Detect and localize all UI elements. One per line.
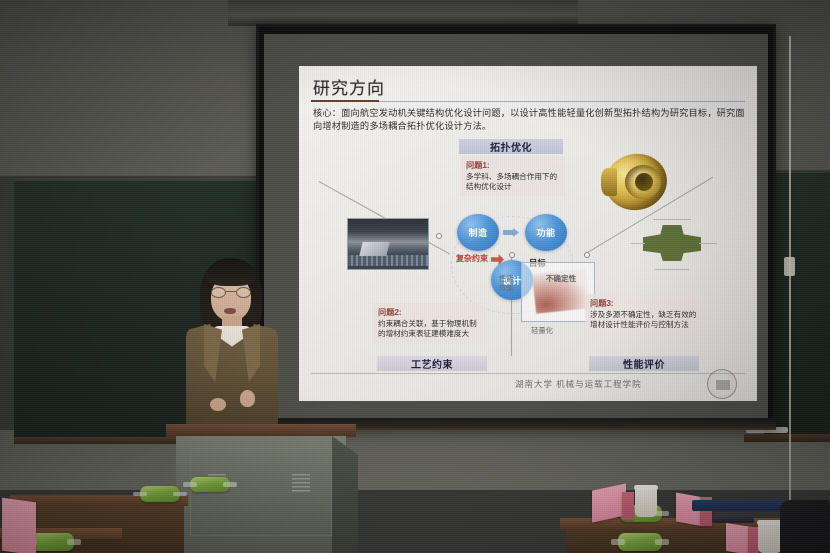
slide-footer: 湖南大学 机械与运载工程学院 bbox=[515, 378, 642, 390]
pillar-process-constraint: 工艺约束 bbox=[377, 356, 487, 371]
presenter-hand-right bbox=[240, 390, 255, 407]
snack-pack bbox=[140, 486, 180, 502]
pareto-y-axis-label: 性能效能 bbox=[499, 274, 521, 292]
problem-1-title: 问题1: bbox=[466, 159, 560, 171]
name-tent-card bbox=[2, 498, 36, 553]
problem-2-body: 约束耦合关联，基于物理机制的增材约束表征建模难度大 bbox=[378, 319, 480, 339]
pillar-performance-evaluation: 性能评价 bbox=[589, 356, 699, 371]
turbine-side-flange bbox=[601, 168, 617, 196]
snack-pack bbox=[30, 533, 74, 551]
slide-title: 研究方向 bbox=[313, 74, 385, 99]
snack-pack bbox=[618, 533, 662, 551]
bag bbox=[780, 500, 830, 553]
bubble-function: 功能 bbox=[525, 214, 567, 251]
slide-footer-rule bbox=[311, 373, 745, 374]
screen-surface: 研究方向 核心：面向航空发动机关键结构优化设计问题，以设计高性能轻量化创新型拓扑… bbox=[264, 34, 768, 420]
title-rule-accent bbox=[311, 100, 379, 102]
presenter bbox=[178, 258, 286, 443]
dimension-line-right bbox=[699, 243, 717, 244]
cup-lip bbox=[634, 485, 658, 490]
dimension-line-left bbox=[631, 243, 645, 244]
glasses-lens-right bbox=[236, 287, 251, 298]
problem-2-box: 问题2: 约束耦合关联，基于物理机制的增材约束表征建模难度大 bbox=[373, 303, 485, 343]
hanging-cable bbox=[789, 36, 791, 516]
paper-cup bbox=[758, 522, 782, 553]
dimension-line-bottom bbox=[655, 269, 689, 270]
glasses-lens-left bbox=[211, 287, 226, 298]
snack-pack bbox=[190, 477, 230, 492]
pareto-annotation: 不确定性 bbox=[529, 273, 593, 284]
slide-core-text: 核心：面向航空发动机关键结构优化设计问题，以设计高性能轻量化创新型拓扑结构为研究… bbox=[313, 107, 745, 133]
presenter-bangs bbox=[206, 264, 256, 286]
phone-device bbox=[712, 514, 754, 523]
bubble-manufacture: 制造 bbox=[457, 214, 499, 251]
presenter-mouth bbox=[224, 308, 236, 314]
bracket-body bbox=[643, 225, 701, 261]
name-tent-card-side bbox=[622, 492, 634, 520]
podium-front-panel bbox=[190, 448, 332, 536]
title-rule-secondary bbox=[379, 101, 745, 102]
glasses-bridge bbox=[226, 291, 236, 292]
ceiling-beam bbox=[228, 0, 578, 26]
podium-vent-right bbox=[292, 474, 310, 492]
am-machine-photo bbox=[347, 218, 429, 270]
machine-rail bbox=[348, 255, 428, 266]
presentation-slide: 研究方向 核心：面向航空发动机关键结构优化设计问题，以设计高性能轻量化创新型拓扑… bbox=[299, 66, 757, 401]
lecture-hall-scene: 研究方向 核心：面向航空发动机关键结构优化设计问题，以设计高性能轻量化创新型拓扑… bbox=[0, 0, 830, 553]
problem-2-title: 问题2: bbox=[378, 306, 480, 318]
paper-cup bbox=[635, 487, 657, 517]
dimension-line-top bbox=[653, 219, 691, 220]
connector-node-left bbox=[436, 233, 442, 239]
podium-side-panel bbox=[332, 436, 358, 553]
pareto-x-axis-label: 轻量化 bbox=[531, 325, 553, 336]
problem-3-body: 涉及多源不确定性，缺乏有效的增材设计性能评价与控制方法 bbox=[590, 310, 698, 330]
label-complex-constraint: 复杂约束 bbox=[452, 254, 492, 264]
glasses-icon bbox=[210, 287, 252, 298]
pillar-topology-optimization: 拓扑优化 bbox=[459, 139, 563, 154]
gold-turbine-model bbox=[599, 148, 673, 216]
problem-1-box: 问题1: 多学科、多场耦合作用下的结构优化设计 bbox=[461, 156, 565, 196]
problem-3-box: 问题3: 涉及多源不确定性，缺乏有效的增材设计性能评价与控制方法 bbox=[585, 294, 703, 334]
problem-1-body: 多学科、多场耦合作用下的结构优化设计 bbox=[466, 172, 560, 192]
turbine-bore bbox=[635, 173, 653, 191]
green-bracket-part bbox=[625, 211, 721, 281]
cable-clip bbox=[784, 257, 795, 276]
problem-3-title: 问题3: bbox=[590, 297, 698, 309]
university-seal-icon bbox=[707, 369, 737, 399]
laptop-device bbox=[692, 500, 790, 511]
projection-screen: 研究方向 核心：面向航空发动机关键结构优化设计问题，以设计高性能轻量化创新型拓扑… bbox=[256, 24, 776, 428]
pareto-chart: 不确定性 bbox=[521, 262, 595, 322]
chalk-rail-right bbox=[744, 434, 830, 442]
connector-node-right bbox=[584, 252, 590, 258]
presenter-hand-left bbox=[210, 398, 226, 411]
